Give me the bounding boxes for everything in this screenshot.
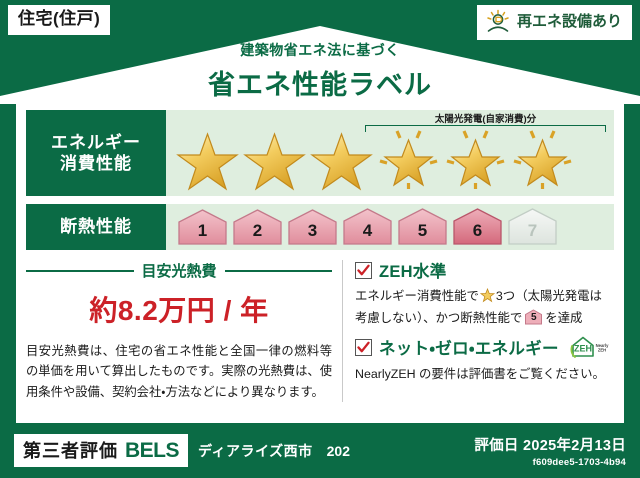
star-5-solar bbox=[442, 125, 509, 191]
insulation-level-5: 5 bbox=[396, 207, 449, 247]
evaluation-date: 評価日 2025年2月13日 bbox=[474, 434, 626, 455]
energy-performance-row: エネルギー 消費性能 太陽光発電(自家消費)分 bbox=[26, 110, 614, 196]
inline-star-icon bbox=[480, 288, 495, 309]
zeh-standard-title: ZEH水準 bbox=[379, 258, 447, 282]
zeh-standard-title-row: ZEH水準 bbox=[355, 258, 614, 282]
insulation-label-text: 断熱性能 bbox=[60, 216, 132, 237]
utility-cost-value: 約8.2万円 / 年 bbox=[26, 289, 332, 329]
utility-cost-note: 目安光熱費は、住宅の省エネ性能と全国一律の燃料等の単価を用いて算出したものです。… bbox=[26, 341, 332, 402]
housing-type-badge: 住宅(住戸) bbox=[8, 5, 110, 35]
energy-label-line1: エネルギー bbox=[51, 132, 141, 153]
renewable-equipment-label: 再エネ設備あり bbox=[517, 14, 622, 31]
inline-house-badge-icon: 5 bbox=[524, 309, 543, 325]
star-3 bbox=[308, 125, 375, 191]
insulation-level-1: 1 bbox=[176, 207, 229, 247]
lower-section: 目安光熱費 約8.2万円 / 年 目安光熱費は、住宅の省エネ性能と全国一律の燃料… bbox=[26, 258, 614, 404]
checkmark-icon-zeh-netzero bbox=[355, 339, 372, 356]
star-1 bbox=[174, 125, 241, 191]
zeh-standard-block: ZEH水準 エネルギー消費性能で3つ（太陽光発電は考慮しない）、かつ断熱性能で5… bbox=[355, 258, 614, 328]
svg-text:ZEH: ZEH bbox=[598, 348, 606, 353]
zeh-logo-icon: ZEH Nearly ZEH bbox=[569, 334, 611, 360]
insulation-level-4: 4 bbox=[341, 207, 394, 247]
footer-bar: 第三者評価 BELS ディアライズ西市 202 評価日 2025年2月13日 f… bbox=[0, 423, 640, 478]
energy-performance-label: エネルギー 消費性能 bbox=[26, 110, 166, 196]
bels-badge: 第三者評価 BELS bbox=[14, 434, 188, 467]
zeh-netzero-description: NearlyZEH の要件は評価書をご覧ください。 bbox=[355, 365, 614, 384]
zeh-standard-star-count: 3つ（太陽光発電 bbox=[496, 289, 590, 303]
zeh-panel: ZEH水準 エネルギー消費性能で3つ（太陽光発電は考慮しない）、かつ断熱性能で5… bbox=[343, 258, 614, 404]
zeh-standard-description: エネルギー消費性能で3つ（太陽光発電は考慮しない）、かつ断熱性能で5を達成 bbox=[355, 287, 614, 328]
insulation-performance-label: 断熱性能 bbox=[26, 204, 166, 250]
insulation-level-6-number: 6 bbox=[451, 221, 504, 241]
energy-star-rating bbox=[174, 125, 576, 191]
insulation-level-1-number: 1 bbox=[176, 221, 229, 241]
label-header: 建築物省エネ法に基づく 省エネ性能ラベル bbox=[0, 40, 640, 102]
solar-portion-note: 太陽光発電(自家消費)分 bbox=[365, 111, 606, 125]
label-subtitle: 建築物省エネ法に基づく bbox=[0, 40, 640, 60]
svg-text:ZEH: ZEH bbox=[574, 344, 592, 354]
solar-renewable-icon bbox=[485, 9, 511, 35]
property-name: ディアライズ西市 bbox=[198, 441, 313, 461]
insulation-level-6: 6 bbox=[451, 207, 504, 247]
page-title: 省エネ性能ラベル bbox=[0, 63, 640, 102]
utility-cost-heading-text: 目安光熱費 bbox=[142, 260, 217, 281]
insulation-level-2: 2 bbox=[231, 207, 284, 247]
utility-cost-panel: 目安光熱費 約8.2万円 / 年 目安光熱費は、住宅の省エネ性能と全国一律の燃料… bbox=[26, 258, 342, 404]
insulation-performance-row: 断熱性能 bbox=[26, 204, 614, 250]
evaluation-id: f609dee5-1703-4b94 bbox=[474, 457, 626, 468]
insulation-level-3: 3 bbox=[286, 207, 339, 247]
insulation-level-7: 7 bbox=[506, 207, 559, 247]
zeh-netzero-title-row: ネット・ゼロ・エネルギー ZEH Nearly ZEH bbox=[355, 334, 614, 360]
insulation-level-5-number: 5 bbox=[396, 221, 449, 241]
insulation-level-3-number: 3 bbox=[286, 221, 339, 241]
bels-japanese-label: 第三者評価 bbox=[23, 437, 118, 463]
label-card: エネルギー 消費性能 太陽光発電(自家消費)分 bbox=[16, 100, 624, 423]
checkmark-icon-zeh-standard bbox=[355, 262, 372, 279]
utility-cost-heading: 目安光熱費 bbox=[26, 260, 332, 281]
renewable-equipment-badge: 再エネ設備あり bbox=[477, 5, 632, 40]
evaluation-info: 評価日 2025年2月13日 f609dee5-1703-4b94 bbox=[474, 434, 626, 468]
insulation-level-4-number: 4 bbox=[341, 221, 394, 241]
energy-stars-area: 太陽光発電(自家消費)分 bbox=[166, 110, 614, 196]
energy-label-root: 住宅(住戸) 再エネ設備あり 建築物省エネ法に基づく 省エネ性能ラベル bbox=[0, 0, 640, 478]
insulation-level-2-number: 2 bbox=[231, 221, 284, 241]
star-6-solar bbox=[509, 125, 576, 191]
zeh-netzero-block: ネット・ゼロ・エネルギー ZEH Nearly ZEH NearlyZEH の要… bbox=[355, 334, 614, 384]
zeh-standard-text-1: エネルギー消費性能で bbox=[355, 289, 479, 303]
property-unit-number: 202 bbox=[327, 443, 350, 459]
inline-house-number: 5 bbox=[524, 309, 543, 325]
insulation-level-scale: 1 2 3 bbox=[176, 207, 559, 247]
star-4-solar bbox=[375, 125, 442, 191]
insulation-level-7-number: 7 bbox=[506, 221, 559, 241]
energy-label-line2: 消費性能 bbox=[60, 153, 132, 174]
star-2 bbox=[241, 125, 308, 191]
zeh-netzero-title: ネット・ゼロ・エネルギー bbox=[379, 335, 559, 359]
bels-logo-text: BELS bbox=[125, 439, 179, 463]
insulation-levels-area: 1 2 3 bbox=[166, 204, 614, 250]
zeh-standard-text-3: を達成 bbox=[545, 311, 582, 325]
